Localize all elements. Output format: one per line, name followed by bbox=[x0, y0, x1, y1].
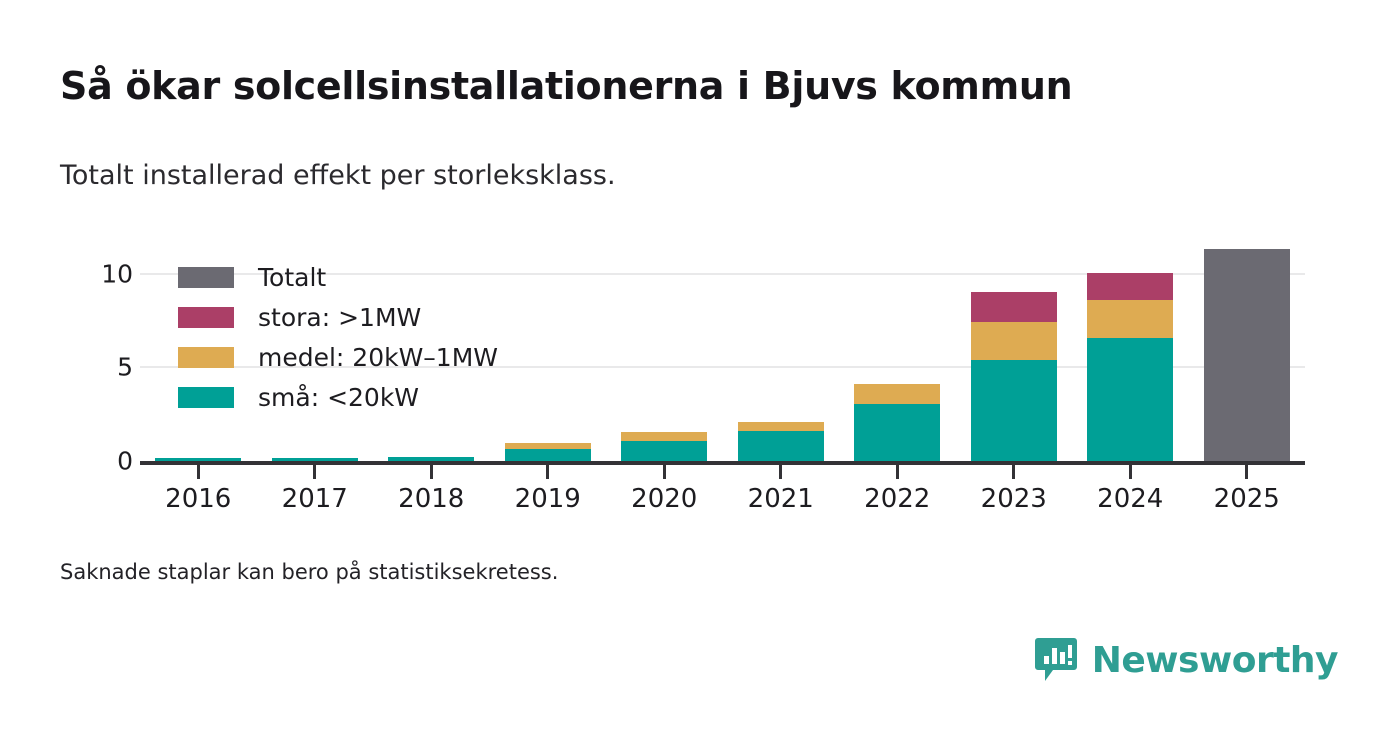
bar-group-2025[interactable] bbox=[1204, 240, 1290, 461]
bar-segment[interactable] bbox=[621, 441, 707, 461]
x-axis-tick-label: 2024 bbox=[1097, 484, 1163, 514]
x-axis-tick-label: 2019 bbox=[515, 484, 581, 514]
x-axis-tick-label: 2018 bbox=[398, 484, 464, 514]
bar-segment[interactable] bbox=[854, 404, 940, 461]
legend-item-3[interactable]: små: <20kW bbox=[178, 377, 498, 417]
bar-segment[interactable] bbox=[1087, 273, 1173, 300]
stacked-bar-chart: 0510 20162017201820192020202120222023202… bbox=[0, 0, 1400, 745]
x-axis-tick bbox=[430, 465, 433, 479]
legend-item-1[interactable]: stora: >1MW bbox=[178, 297, 498, 337]
bar-group-2019[interactable] bbox=[505, 240, 591, 461]
bar-segment[interactable] bbox=[1204, 249, 1290, 461]
chart-legend: Totaltstora: >1MWmedel: 20kW–1MWsmå: <20… bbox=[178, 257, 498, 417]
x-axis-tick-label: 2017 bbox=[282, 484, 348, 514]
x-axis-tick bbox=[1129, 465, 1132, 479]
y-axis-tick-label: 10 bbox=[101, 259, 133, 288]
bar-segment[interactable] bbox=[738, 431, 824, 461]
bar-segment[interactable] bbox=[505, 449, 591, 461]
legend-item-0[interactable]: Totalt bbox=[178, 257, 498, 297]
footnote: Saknade staplar kan bero på statistiksek… bbox=[60, 560, 558, 584]
x-axis-tick bbox=[1012, 465, 1015, 479]
logo-wordmark: Newsworthy bbox=[1092, 640, 1338, 681]
legend-swatch bbox=[178, 387, 234, 408]
bar-group-2022[interactable] bbox=[854, 240, 940, 461]
bar-group-2021[interactable] bbox=[738, 240, 824, 461]
y-axis-tick-label: 0 bbox=[117, 447, 133, 476]
bar-group-2023[interactable] bbox=[971, 240, 1057, 461]
y-axis-tick-label: 5 bbox=[117, 353, 133, 382]
bar-segment[interactable] bbox=[1087, 300, 1173, 338]
legend-label: stora: >1MW bbox=[258, 303, 421, 332]
x-axis-tick-label: 2016 bbox=[165, 484, 231, 514]
x-axis-tick-label: 2022 bbox=[864, 484, 930, 514]
legend-swatch bbox=[178, 307, 234, 328]
bar-segment[interactable] bbox=[971, 322, 1057, 359]
x-axis-tick bbox=[779, 465, 782, 479]
bar-segment[interactable] bbox=[971, 292, 1057, 322]
legend-label: små: <20kW bbox=[258, 383, 419, 412]
x-axis-tick bbox=[896, 465, 899, 479]
bar-segment[interactable] bbox=[971, 360, 1057, 461]
x-axis-tick-label: 2023 bbox=[981, 484, 1047, 514]
x-axis-tick bbox=[663, 465, 666, 479]
legend-label: medel: 20kW–1MW bbox=[258, 343, 498, 372]
bar-group-2024[interactable] bbox=[1087, 240, 1173, 461]
x-axis-tick bbox=[1245, 465, 1248, 479]
bar-segment[interactable] bbox=[1087, 338, 1173, 461]
legend-label: Totalt bbox=[258, 263, 326, 292]
x-axis-tick bbox=[197, 465, 200, 479]
bar-segment[interactable] bbox=[621, 432, 707, 441]
bar-segment[interactable] bbox=[854, 384, 940, 403]
newsworthy-logo[interactable]: Newsworthy bbox=[1034, 636, 1338, 684]
x-axis-tick-label: 2021 bbox=[748, 484, 814, 514]
x-axis-tick bbox=[546, 465, 549, 479]
chart-page: Så ökar solcellsinstallationerna i Bjuvs… bbox=[0, 0, 1400, 745]
bar-chart-bubble-icon bbox=[1034, 636, 1078, 684]
x-axis-tick-label: 2025 bbox=[1214, 484, 1280, 514]
bar-segment[interactable] bbox=[738, 422, 824, 430]
legend-swatch bbox=[178, 347, 234, 368]
bar-segment[interactable] bbox=[505, 443, 591, 449]
x-axis-tick bbox=[313, 465, 316, 479]
bar-group-2020[interactable] bbox=[621, 240, 707, 461]
legend-item-2[interactable]: medel: 20kW–1MW bbox=[178, 337, 498, 377]
x-axis-tick-label: 2020 bbox=[631, 484, 697, 514]
legend-swatch bbox=[178, 267, 234, 288]
